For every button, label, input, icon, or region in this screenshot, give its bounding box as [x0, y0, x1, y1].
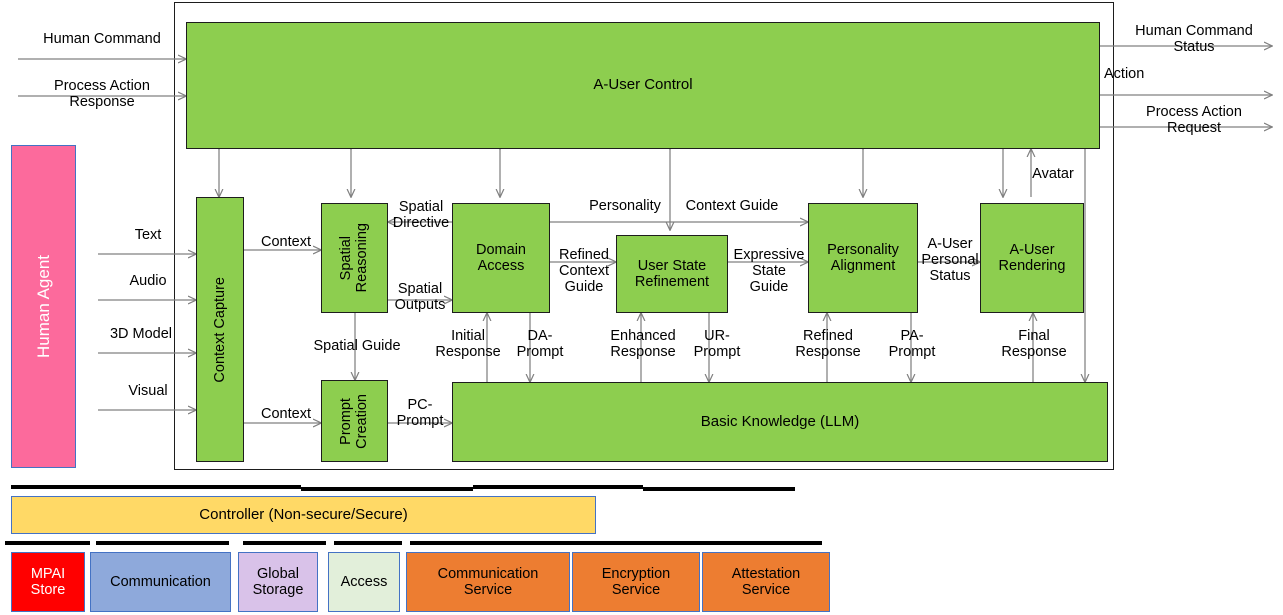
- media-input-label-visual: Visual: [102, 384, 194, 400]
- service-global-storage-label-2: Storage: [253, 582, 304, 598]
- module-personality-alignment-label-1: Personality: [827, 242, 899, 258]
- bus-bar-service-2: [96, 541, 229, 545]
- wire-label-refined-response: Refined Response: [783, 329, 873, 361]
- wire-label-spatial-guide: Spatial Guide: [292, 339, 422, 355]
- wire-label-pa-prompt: PA- Prompt: [880, 329, 944, 361]
- wire-label-context-guide: Context Guide: [676, 199, 788, 215]
- service-mpai-store-label-1: MPAI: [31, 566, 65, 582]
- module-user-state-refinement-label-2: Refinement: [635, 274, 709, 290]
- module-domain-access[interactable]: Domain Access: [452, 203, 550, 313]
- bus-bar-controller-2: [301, 487, 473, 491]
- media-input-label-3d-model: 3D Model: [88, 327, 194, 343]
- service-encryption-service-label-2: Service: [612, 582, 660, 598]
- module-a-user-rendering-label-1: A-User: [1009, 242, 1054, 258]
- bus-bar-controller-4: [643, 487, 795, 491]
- module-a-user-rendering[interactable]: A-User Rendering: [980, 203, 1084, 313]
- service-encryption-service-label-1: Encryption: [602, 566, 671, 582]
- bus-bar-controller-3: [473, 485, 643, 489]
- bus-bar-service-1: [5, 541, 90, 545]
- input-process-action-text: Process Action: [18, 79, 186, 95]
- input-label-process-action-response: Process Action Response: [18, 79, 186, 111]
- service-global-storage-label-1: Global: [257, 566, 299, 582]
- module-context-capture-label: Context Capture: [212, 277, 228, 383]
- service-global-storage[interactable]: Global Storage: [238, 552, 318, 612]
- output-process-action-text: Process Action: [1110, 105, 1278, 121]
- service-access[interactable]: Access: [328, 552, 400, 612]
- service-attestation-service[interactable]: Attestation Service: [702, 552, 830, 612]
- service-mpai-store-label-2: Store: [31, 582, 66, 598]
- module-spatial-reasoning[interactable]: Spatial Reasoning: [321, 203, 388, 313]
- module-personality-alignment[interactable]: Personality Alignment: [808, 203, 918, 313]
- wire-label-enhanced-response: Enhanced Response: [596, 329, 690, 361]
- module-user-state-refinement-label-1: User State: [638, 258, 707, 274]
- bus-bar-service-4: [334, 541, 402, 545]
- service-communication[interactable]: Communication: [90, 552, 231, 612]
- service-attestation-service-label-2: Service: [742, 582, 790, 598]
- module-domain-access-label-1: Domain: [476, 242, 526, 258]
- wire-label-da-prompt: DA- Prompt: [508, 329, 572, 361]
- media-input-label-text: Text: [102, 228, 194, 244]
- module-context-capture[interactable]: Context Capture: [196, 197, 244, 462]
- input-label-human-command: Human Command: [18, 32, 186, 48]
- wire-label-expressive-state-guide: Expressive State Guide: [729, 248, 809, 296]
- wire-label-ur-prompt: UR- Prompt: [685, 329, 749, 361]
- service-communication-label: Communication: [110, 574, 211, 590]
- component-controller[interactable]: Controller (Non-secure/Secure): [11, 496, 596, 534]
- wire-label-personality: Personality: [578, 199, 672, 215]
- bus-bar-service-3: [243, 541, 326, 545]
- entity-human-agent[interactable]: Human Agent: [11, 145, 76, 468]
- bus-bar-controller-1: [11, 485, 301, 489]
- input-human-command-text: Human Command: [43, 31, 161, 47]
- wire-label-final-response: Final Response: [988, 329, 1080, 361]
- entity-human-agent-label: Human Agent: [34, 255, 53, 358]
- wire-label-refined-context-guide: Refined Context Guide: [551, 248, 617, 296]
- module-a-user-rendering-label-2: Rendering: [999, 258, 1066, 274]
- wire-label-spatial-directive: Spatial Directive: [387, 200, 455, 232]
- service-access-label: Access: [341, 574, 388, 590]
- output-label-process-action-request: Process Action Request: [1110, 105, 1278, 137]
- wire-label-context-2: Context: [246, 407, 326, 423]
- output-human-command-text: Human Command: [1110, 24, 1278, 40]
- module-domain-access-label-2: Access: [478, 258, 525, 274]
- wire-label-spatial-outputs: Spatial Outputs: [387, 282, 453, 314]
- output-request-text: Request: [1110, 121, 1278, 137]
- module-a-user-control-label: A-User Control: [593, 77, 692, 94]
- module-spatial-reasoning-label: Spatial Reasoning: [338, 223, 370, 292]
- module-prompt-creation[interactable]: Prompt Creation: [321, 380, 388, 462]
- wire-label-pc-prompt: PC- Prompt: [389, 398, 451, 430]
- module-basic-knowledge-label: Basic Knowledge (LLM): [701, 414, 859, 431]
- wire-label-initial-response: Initial Response: [425, 329, 511, 361]
- wire-label-a-user-personal-status: A-User Personal Status: [919, 237, 981, 285]
- module-prompt-creation-label: Prompt Creation: [338, 394, 370, 449]
- wire-label-context-1: Context: [246, 235, 326, 251]
- output-label-action: Action: [1104, 67, 1224, 83]
- input-response-text: Response: [18, 95, 186, 111]
- module-personality-alignment-label-2: Alignment: [831, 258, 895, 274]
- service-communication-service-label-2: Service: [464, 582, 512, 598]
- service-communication-service[interactable]: Communication Service: [406, 552, 570, 612]
- diagram-canvas: A-User Control Human Command Process Act…: [0, 0, 1283, 615]
- output-label-human-command-status: Human Command Status: [1110, 24, 1278, 56]
- service-encryption-service[interactable]: Encryption Service: [572, 552, 700, 612]
- module-user-state-refinement[interactable]: User State Refinement: [616, 235, 728, 313]
- component-controller-label: Controller (Non-secure/Secure): [199, 507, 407, 524]
- service-communication-service-label-1: Communication: [438, 566, 539, 582]
- module-a-user-control[interactable]: A-User Control: [186, 22, 1100, 149]
- service-attestation-service-label-1: Attestation: [732, 566, 801, 582]
- service-mpai-store[interactable]: MPAI Store: [11, 552, 85, 612]
- wire-label-avatar: Avatar: [1003, 167, 1103, 183]
- media-input-label-audio: Audio: [102, 274, 194, 290]
- output-action-text: Action: [1104, 66, 1144, 82]
- bus-bar-service-5: [410, 541, 822, 545]
- module-basic-knowledge-llm[interactable]: Basic Knowledge (LLM): [452, 382, 1108, 462]
- output-status-text: Status: [1110, 40, 1278, 56]
